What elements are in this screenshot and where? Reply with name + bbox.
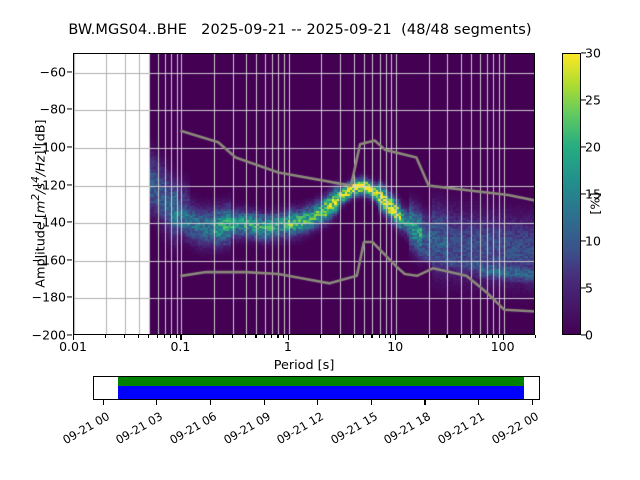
colorbar-tick-label: 30 xyxy=(585,46,601,61)
x-tick-mark-minor xyxy=(105,335,106,338)
timeline-tick-mark xyxy=(210,400,211,405)
colorbar-tick-label: 5 xyxy=(585,281,593,296)
colorbar-tick-label: 0 xyxy=(585,328,593,343)
timeline-tick-label: 09-21 00 xyxy=(53,409,112,451)
y-tick-label: −60 xyxy=(0,64,66,79)
ppsd-figure: BW.MGS04..BHE 2025-09-21 -- 2025-09-21 (… xyxy=(0,0,640,480)
y-tick-mark xyxy=(67,297,72,298)
timeline-tick-mark xyxy=(264,400,265,405)
colorbar-tick-mark xyxy=(581,240,586,241)
timeline-tick-label: 09-22 00 xyxy=(482,409,541,451)
y-tick-label: −200 xyxy=(0,328,66,343)
timeline-tick-label: 09-21 03 xyxy=(106,409,165,451)
x-tick-mark-minor xyxy=(164,335,165,338)
x-tick-mark-minor xyxy=(371,335,372,338)
x-tick-mark-minor xyxy=(138,335,139,338)
x-tick-mark-minor xyxy=(157,335,158,338)
y-tick-mark xyxy=(67,146,72,147)
x-axis-label: Period [s] xyxy=(73,358,535,373)
colorbar[interactable] xyxy=(562,53,581,335)
x-tick-label: 1 xyxy=(284,339,292,354)
y-axis-unit-exp2: 2 xyxy=(29,194,42,201)
x-tick-mark-minor xyxy=(232,335,233,338)
x-tick-mark-minor xyxy=(255,335,256,338)
x-tick-mark-minor xyxy=(492,335,493,338)
y-tick-label: −80 xyxy=(0,102,66,117)
x-tick-mark-minor xyxy=(213,335,214,338)
y-tick-label: −180 xyxy=(0,290,66,305)
y-tick-label: −160 xyxy=(0,252,66,267)
colorbar-tick-mark xyxy=(581,52,586,53)
y-tick-label: −100 xyxy=(0,140,66,155)
y-tick-mark xyxy=(67,109,72,110)
colorbar-label: [%] xyxy=(589,164,604,244)
timeline-tick-label: 09-21 15 xyxy=(321,409,380,451)
timeline-blue-bar[interactable] xyxy=(118,386,523,399)
timeline-green-bar[interactable] xyxy=(118,377,523,386)
x-tick-label: 10 xyxy=(387,339,403,354)
y-tick-mark xyxy=(67,222,72,223)
x-tick-mark-minor xyxy=(245,335,246,338)
timeline-tick-mark xyxy=(424,400,425,405)
y-axis-unit-hz: /Hz xyxy=(34,155,49,176)
y-tick-label: −120 xyxy=(0,177,66,192)
x-tick-mark-minor xyxy=(428,335,429,338)
colorbar-tick-mark xyxy=(581,99,586,100)
x-tick-mark-minor xyxy=(498,335,499,338)
timeline-tick-label: 09-21 06 xyxy=(160,409,219,451)
x-tick-mark xyxy=(288,335,289,340)
x-tick-mark-minor xyxy=(379,335,380,338)
timeline-tick-label: 09-21 09 xyxy=(214,409,273,451)
x-tick-mark xyxy=(503,335,504,340)
x-tick-mark-minor xyxy=(283,335,284,338)
x-tick-mark-minor xyxy=(446,335,447,338)
x-tick-mark-minor xyxy=(170,335,171,338)
timeline-tick-mark xyxy=(532,400,533,405)
x-tick-mark-minor xyxy=(535,335,536,338)
timeline-tick-mark xyxy=(156,400,157,405)
x-tick-mark-minor xyxy=(148,335,149,338)
x-tick-label: 0.01 xyxy=(59,339,87,354)
ppsd-density-canvas xyxy=(74,54,535,335)
y-axis-unit-m: m xyxy=(34,201,49,213)
x-tick-mark-minor xyxy=(277,335,278,338)
x-tick-label: 100 xyxy=(491,339,515,354)
x-tick-mark-minor xyxy=(460,335,461,338)
y-tick-mark xyxy=(67,259,72,260)
y-tick-mark xyxy=(67,334,72,335)
timeline-tick-label: 09-21 18 xyxy=(374,409,433,451)
x-tick-mark xyxy=(73,335,74,340)
figure-title: BW.MGS04..BHE 2025-09-21 -- 2025-09-21 (… xyxy=(0,22,600,38)
timeline-tick-mark xyxy=(317,400,318,405)
timeline-tick-mark xyxy=(478,400,479,405)
timeline-tick-label: 09-21 21 xyxy=(428,409,487,451)
colorbar-tick-mark xyxy=(581,193,586,194)
timeline-tick-label: 09-21 12 xyxy=(267,409,326,451)
x-tick-mark-minor xyxy=(124,335,125,338)
y-tick-label: −140 xyxy=(0,215,66,230)
x-tick-mark-minor xyxy=(271,335,272,338)
timeline-tick-mark xyxy=(103,400,104,405)
x-tick-mark-minor xyxy=(339,335,340,338)
colorbar-tick-label: 20 xyxy=(585,140,601,155)
x-tick-mark xyxy=(395,335,396,340)
colorbar-tick-label: 25 xyxy=(585,93,601,108)
x-tick-mark-minor xyxy=(363,335,364,338)
x-tick-mark-minor xyxy=(479,335,480,338)
colorbar-tick-mark xyxy=(581,287,586,288)
x-tick-mark-minor xyxy=(385,335,386,338)
x-tick-mark xyxy=(180,335,181,340)
colorbar-tick-mark xyxy=(581,334,586,335)
colorbar-tick-mark xyxy=(581,146,586,147)
y-tick-mark xyxy=(67,71,72,72)
x-tick-mark-minor xyxy=(390,335,391,338)
x-tick-mark-minor xyxy=(320,335,321,338)
ppsd-plot-area[interactable] xyxy=(73,53,535,335)
timeline-tick-mark xyxy=(371,400,372,405)
x-tick-mark-minor xyxy=(470,335,471,338)
x-tick-mark-minor xyxy=(486,335,487,338)
x-tick-mark-minor xyxy=(176,335,177,338)
x-tick-mark-minor xyxy=(264,335,265,338)
y-tick-mark xyxy=(67,184,72,185)
x-tick-mark-minor xyxy=(353,335,354,338)
data-coverage-timeline[interactable] xyxy=(93,376,540,400)
x-tick-label: 0.1 xyxy=(170,339,190,354)
